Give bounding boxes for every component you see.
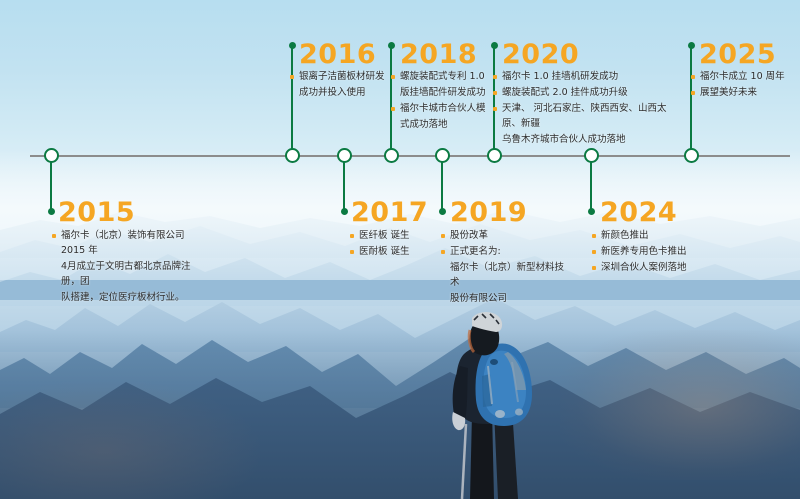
year-label-2024: 2024	[600, 199, 677, 226]
bullet-item: 股份改革	[441, 228, 571, 243]
milestone-endcap-2017	[341, 208, 348, 215]
milestone-node-2020[interactable]	[487, 148, 502, 163]
bullet-item: 福尔卡（北京）新型材料技术	[441, 260, 571, 290]
hiker-figure	[420, 306, 570, 499]
warm-light-right	[560, 330, 800, 480]
milestone-endcap-2016	[289, 42, 296, 49]
year-label-2018: 2018	[400, 41, 477, 68]
year-label-2016: 2016	[299, 41, 376, 68]
bullet-item: 螺旋装配式专利 1.0	[391, 69, 509, 84]
bullet-item: 新颜色推出	[592, 228, 742, 243]
bullet-item: 版挂墙配件研发成功	[391, 85, 509, 100]
milestone-node-2016[interactable]	[285, 148, 300, 163]
milestone-endcap-2020	[491, 42, 498, 49]
timeline-infographic: 2015福尔卡（北京）装饰有限公司 2015 年4月成立于文明古都北京品牌注册，…	[0, 0, 800, 499]
bullet-item: 螺旋装配式 2.0 挂件成功升级	[493, 85, 673, 100]
milestone-stem-2017	[343, 155, 345, 212]
milestone-node-2018[interactable]	[384, 148, 399, 163]
year-label-2015: 2015	[58, 199, 135, 226]
bullet-item: 新医养专用色卡推出	[592, 244, 742, 259]
milestone-endcap-2024	[588, 208, 595, 215]
bullet-item: 展望美好未来	[691, 85, 800, 100]
bullet-item: 天津、 河北石家庄、陕西西安、山西太原、新疆	[493, 101, 673, 131]
bullet-item: 4月成立于文明古都北京品牌注册，团	[52, 259, 202, 289]
bullet-item: 乌鲁木齐城市合伙人成功落地	[493, 132, 673, 147]
bullet-item: 正式更名为:	[441, 244, 571, 259]
milestone-text-2025: 福尔卡成立 10 周年展望美好未来	[691, 69, 800, 101]
bullet-item: 福尔卡（北京）装饰有限公司 2015 年	[52, 228, 202, 258]
bullet-item: 福尔卡 1.0 挂墙机研发成功	[493, 69, 673, 84]
year-label-2020: 2020	[502, 41, 579, 68]
year-label-2017: 2017	[351, 199, 428, 226]
milestone-endcap-2019	[439, 208, 446, 215]
bullet-item: 福尔卡成立 10 周年	[691, 69, 800, 84]
warm-light-left	[0, 380, 260, 499]
milestone-node-2025[interactable]	[684, 148, 699, 163]
milestone-text-2015: 福尔卡（北京）装饰有限公司 2015 年4月成立于文明古都北京品牌注册，团队搭建…	[52, 228, 202, 306]
bullet-item: 股份有限公司	[441, 291, 571, 306]
milestone-node-2019[interactable]	[435, 148, 450, 163]
milestone-text-2018: 螺旋装配式专利 1.0版挂墙配件研发成功福尔卡城市合伙人模式成功落地	[391, 69, 509, 133]
milestone-node-2015[interactable]	[44, 148, 59, 163]
milestone-endcap-2015	[48, 208, 55, 215]
milestone-stem-2019	[441, 155, 443, 212]
milestone-text-2020: 福尔卡 1.0 挂墙机研发成功螺旋装配式 2.0 挂件成功升级天津、 河北石家庄…	[493, 69, 673, 148]
milestone-node-2024[interactable]	[584, 148, 599, 163]
bullet-item: 队搭建，定位医疗板材行业。	[52, 290, 202, 305]
bullet-item: 福尔卡城市合伙人模	[391, 101, 509, 116]
year-label-2025: 2025	[699, 41, 776, 68]
year-label-2019: 2019	[450, 199, 527, 226]
milestone-stem-2024	[590, 155, 592, 212]
milestone-stem-2015	[50, 155, 52, 212]
milestone-node-2017[interactable]	[337, 148, 352, 163]
milestone-endcap-2018	[388, 42, 395, 49]
milestone-text-2024: 新颜色推出新医养专用色卡推出深圳合伙人案例落地	[592, 228, 742, 276]
bullet-item: 深圳合伙人案例落地	[592, 260, 742, 275]
milestone-endcap-2025	[688, 42, 695, 49]
bullet-item: 式成功落地	[391, 117, 509, 132]
timeline-axis	[30, 155, 790, 157]
milestone-text-2019: 股份改革正式更名为:福尔卡（北京）新型材料技术股份有限公司	[441, 228, 571, 307]
